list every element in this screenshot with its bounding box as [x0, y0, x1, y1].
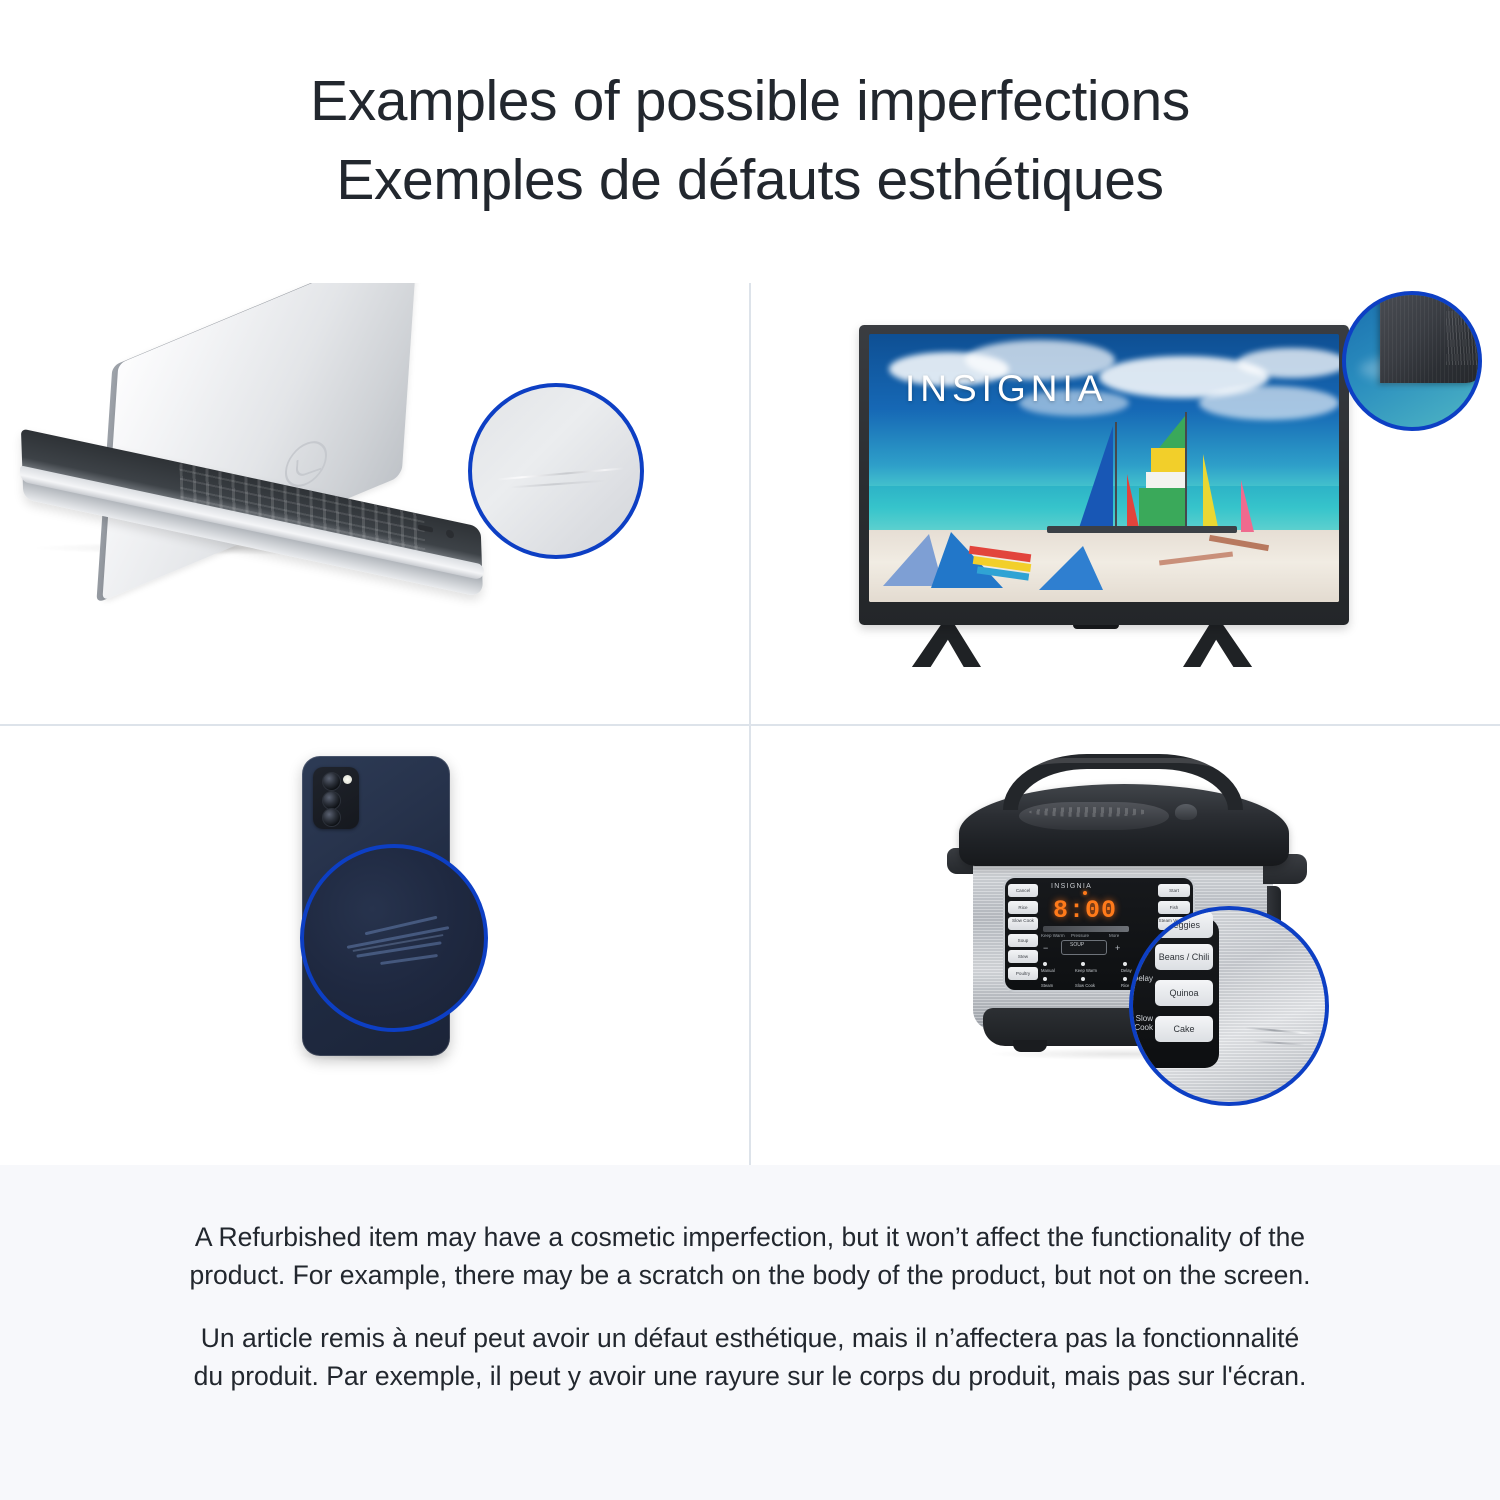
- page-title-en: Examples of possible imperfections: [310, 62, 1190, 141]
- catamaran-hull: [1047, 526, 1237, 533]
- magnified-button-cake: Cake: [1155, 1016, 1213, 1042]
- camera-lens: [322, 772, 341, 791]
- footer-disclaimer: A Refurbished item may have a cosmetic i…: [0, 1165, 1500, 1500]
- magnified-button-veggies: Veggies: [1155, 912, 1213, 938]
- cooker-button-stew[interactable]: Stew: [1008, 950, 1038, 963]
- page-title-fr: Exemples de défauts esthétiques: [336, 141, 1163, 220]
- sail-blue: [1079, 426, 1113, 528]
- sail-pink: [1241, 480, 1254, 532]
- television-illustration: INSIGNIA: [751, 283, 1500, 724]
- cooker-button-cancel[interactable]: Cancel: [1008, 884, 1038, 897]
- cooker-button-column-left[interactable]: Cancel Rice Slow Cook Soup Stew Poultry: [1008, 884, 1038, 983]
- cooker-handle-highlight: [1013, 758, 1231, 780]
- magnifier-tv-corner-scuff: [1342, 291, 1482, 431]
- minus-button[interactable]: −: [1043, 943, 1048, 953]
- laptop-illustration: [0, 283, 749, 724]
- magnified-button-quinoa: Quinoa: [1155, 980, 1213, 1006]
- tv-scuff-mark: [1446, 311, 1480, 365]
- magnifier-cooker-scratch: Veggies Beans / Chili Quinoa Cake Delay …: [1129, 906, 1329, 1106]
- indicator-dot: [1081, 962, 1085, 966]
- mast: [1185, 412, 1187, 532]
- smartphone-illustration: [0, 726, 749, 1165]
- cloud: [1199, 386, 1339, 420]
- tv-foot-right: [1183, 623, 1255, 667]
- magnified-label-delay: Delay: [1129, 974, 1153, 983]
- sail-red: [1127, 474, 1140, 532]
- indicator-label-steam: Steam: [1041, 983, 1053, 988]
- cooker-foot-left: [1013, 1040, 1047, 1052]
- indicator-label-manual: Manual: [1041, 968, 1055, 973]
- camera-flash-icon: [343, 775, 352, 784]
- cooker-button-poultry[interactable]: Poultry: [1008, 967, 1038, 980]
- indicator-label-delay: Delay: [1121, 968, 1132, 973]
- kite-blue-2: [1039, 546, 1103, 590]
- cooker-led-display: 8:00: [1047, 896, 1123, 922]
- magnifier-phone-scratches: [300, 844, 488, 1032]
- sail-white-band: [1146, 472, 1185, 488]
- indicator-dot: [1123, 977, 1127, 981]
- magnified-button-beans-chili: Beans / Chili: [1155, 944, 1213, 970]
- laptop-scratch-mark: [496, 467, 624, 480]
- led-indicator-dot: [1083, 891, 1087, 895]
- cooker-button-slow-cook[interactable]: Slow Cook: [1008, 917, 1038, 930]
- magnifier-laptop-scratch: [468, 383, 644, 559]
- example-cell-pressure-cooker: INSIGNIA 8:00 Keep Warm Pressure More − …: [751, 726, 1500, 1165]
- tv-foot-left: [909, 623, 981, 667]
- tv-screen: INSIGNIA: [869, 334, 1339, 602]
- tv-body: INSIGNIA: [859, 325, 1349, 625]
- indicator-label-rice: Rice: [1121, 983, 1129, 988]
- cooker-button-rice[interactable]: Rice: [1008, 901, 1038, 914]
- indicator-dot: [1043, 962, 1047, 966]
- indicator-label-slow-cook: Slow Cook: [1075, 983, 1095, 988]
- cooker-mini-screen: SOUP: [1061, 940, 1107, 955]
- magnified-label-slow-cook: Slow Cook: [1129, 1014, 1153, 1032]
- disclaimer-paragraph-fr: Un article remis à neuf peut avoir un dé…: [185, 1320, 1315, 1395]
- cloud: [1237, 348, 1339, 378]
- example-cell-laptop: [0, 283, 749, 724]
- disclaimer-paragraph-en: A Refurbished item may have a cosmetic i…: [185, 1219, 1315, 1294]
- indicator-dot: [1081, 977, 1085, 981]
- cooker-progress-bar: [1043, 926, 1129, 932]
- example-cell-smartphone: [0, 726, 749, 1165]
- sail-green-top: [1159, 416, 1185, 448]
- mast: [1115, 422, 1117, 532]
- camera-lens: [322, 808, 341, 827]
- cooker-brand-label: INSIGNIA: [1051, 883, 1092, 890]
- bar-label-keep-warm: Keep Warm: [1041, 933, 1065, 938]
- cooker-button-start[interactable]: Start: [1158, 884, 1190, 897]
- camera-module: [313, 767, 359, 829]
- magnified-control-panel: Veggies Beans / Chili Quinoa Cake Delay …: [1129, 918, 1219, 1068]
- phone-scratch-mark: [380, 954, 438, 965]
- cooker-button-soup[interactable]: Soup: [1008, 934, 1038, 947]
- sail-yellow: [1203, 454, 1219, 532]
- mini-screen-line-1: SOUP: [1070, 943, 1084, 949]
- sail-yellow-band: [1151, 448, 1185, 472]
- example-cell-television: INSIGNIA: [751, 283, 1500, 724]
- plus-button[interactable]: +: [1115, 943, 1120, 953]
- bar-label-more: More: [1109, 933, 1119, 938]
- indicator-label-keep-warm: Keep Warm: [1075, 968, 1097, 973]
- page-header: Examples of possible imperfections Exemp…: [0, 0, 1500, 283]
- bar-label-pressure: Pressure: [1071, 933, 1089, 938]
- laptop-scratch-mark-secondary: [510, 480, 606, 488]
- indicator-dot: [1043, 977, 1047, 981]
- pressure-cooker-illustration: INSIGNIA 8:00 Keep Warm Pressure More − …: [751, 726, 1500, 1165]
- tv-brand-logo: INSIGNIA: [905, 368, 1107, 410]
- indicator-dot: [1123, 962, 1127, 966]
- tv-bezel-corner: [1380, 291, 1482, 383]
- product-examples-grid: INSIGNIA: [0, 283, 1500, 1165]
